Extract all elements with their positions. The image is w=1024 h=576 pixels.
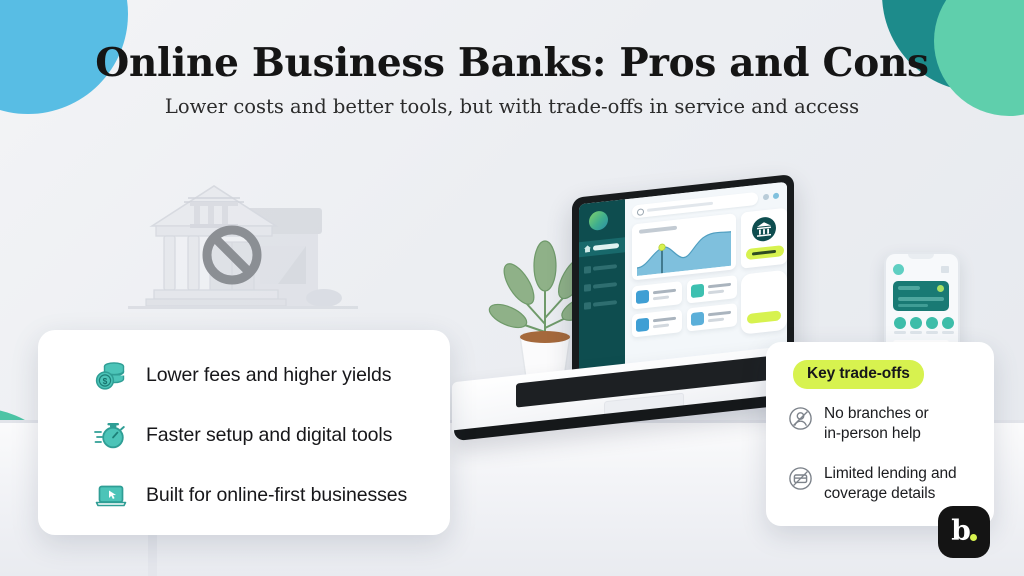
status-badge: Key trade-offs <box>793 360 924 389</box>
grid-icon <box>584 266 591 274</box>
notification-icon[interactable] <box>763 194 769 201</box>
bank-icon <box>752 216 776 243</box>
brand-logo-letter: b <box>951 517 971 545</box>
dashboard-logo-icon <box>589 210 608 231</box>
page-subtitle: Lower costs and better tools, but with t… <box>0 95 1024 118</box>
header: Online Business Banks: Pros and Cons Low… <box>0 40 1024 118</box>
stopwatch-icon <box>94 418 128 452</box>
dashboard-nav-label <box>593 282 617 289</box>
phone-action-icon <box>910 317 922 329</box>
brand-logo-dot <box>970 534 977 541</box>
dashboard-sidebar <box>579 199 625 372</box>
dashboard-side-card <box>741 270 787 335</box>
phone-card-badge <box>937 285 944 292</box>
search-placeholder-line <box>647 202 713 212</box>
lock-icon <box>636 318 649 332</box>
tradeoffs-card: Key trade-offs No branches orin-person h… <box>766 342 994 526</box>
dashboard-tile[interactable] <box>687 275 737 303</box>
phone-action-icon <box>926 317 938 329</box>
dashboard-tile[interactable] <box>687 303 737 331</box>
dashboard-nav-item-active[interactable] <box>579 237 625 257</box>
svg-text:$: $ <box>103 376 108 386</box>
list-item: Limited lending andcoverage details <box>788 464 984 504</box>
bank-building-illustration <box>128 168 358 338</box>
chart-card-title-line <box>639 226 677 234</box>
phone-action-icon <box>894 317 906 329</box>
dashboard-nav-item[interactable] <box>579 295 625 313</box>
bar-chart-icon <box>636 290 649 304</box>
dashboard-nav-label <box>593 300 617 307</box>
dashboard-tile[interactable] <box>632 281 682 309</box>
search-icon <box>637 208 644 216</box>
list-item: Faster setup and digital tools <box>94 418 442 452</box>
dashboard-bank-card <box>741 208 787 269</box>
settings-icon <box>584 302 591 310</box>
phone-notch <box>908 254 934 259</box>
dashboard-nav-label <box>593 264 617 271</box>
list-item: $ Lower fees and higher yields <box>94 358 442 392</box>
list-item: No branches orin-person help <box>788 404 984 444</box>
phone-menu-icon <box>941 266 949 273</box>
dashboard-tile[interactable] <box>632 309 682 337</box>
dashboard-primary-button[interactable] <box>746 245 784 260</box>
benefits-card: $ Lower fees and higher yields Faster s <box>38 330 450 535</box>
home-icon <box>584 245 591 253</box>
button-label-line <box>752 250 776 256</box>
coins-stack-icon: $ <box>94 358 128 392</box>
dashboard-nav-label <box>593 243 619 251</box>
avatar[interactable] <box>773 193 779 200</box>
infographic-canvas: Online Business Banks: Pros and Cons Low… <box>0 0 1024 576</box>
dashboard-chart-card <box>632 213 736 280</box>
no-card-icon <box>788 466 813 491</box>
list-item-label: Faster setup and digital tools <box>146 424 392 447</box>
dashboard-search-input[interactable] <box>632 192 758 219</box>
dashboard-nav-item[interactable] <box>579 277 625 295</box>
chart-icon <box>584 284 591 292</box>
list-item-label: Built for online-first businesses <box>146 484 407 507</box>
document-icon <box>691 284 704 298</box>
brand-logo: b <box>938 506 990 558</box>
list-item-label: No branches orin-person help <box>824 404 929 444</box>
phone-action-icon <box>942 317 954 329</box>
dashboard-secondary-button[interactable] <box>747 310 781 324</box>
dashboard-main-area <box>625 182 787 368</box>
phone-balance-card <box>893 281 949 311</box>
card-icon <box>691 312 704 326</box>
area-chart <box>637 228 731 276</box>
page-title: Online Business Banks: Pros and Cons <box>0 40 1024 86</box>
phone-avatar <box>893 264 904 275</box>
laptop-cursor-icon <box>94 478 128 512</box>
laptop-illustration <box>452 186 792 450</box>
laptop-screen <box>579 182 787 373</box>
list-item-label: Limited lending andcoverage details <box>824 464 957 504</box>
dashboard-nav-item[interactable] <box>579 259 625 277</box>
list-item-label: Lower fees and higher yields <box>146 364 391 387</box>
no-person-icon <box>788 406 813 431</box>
list-item: Built for online-first businesses <box>94 478 442 512</box>
